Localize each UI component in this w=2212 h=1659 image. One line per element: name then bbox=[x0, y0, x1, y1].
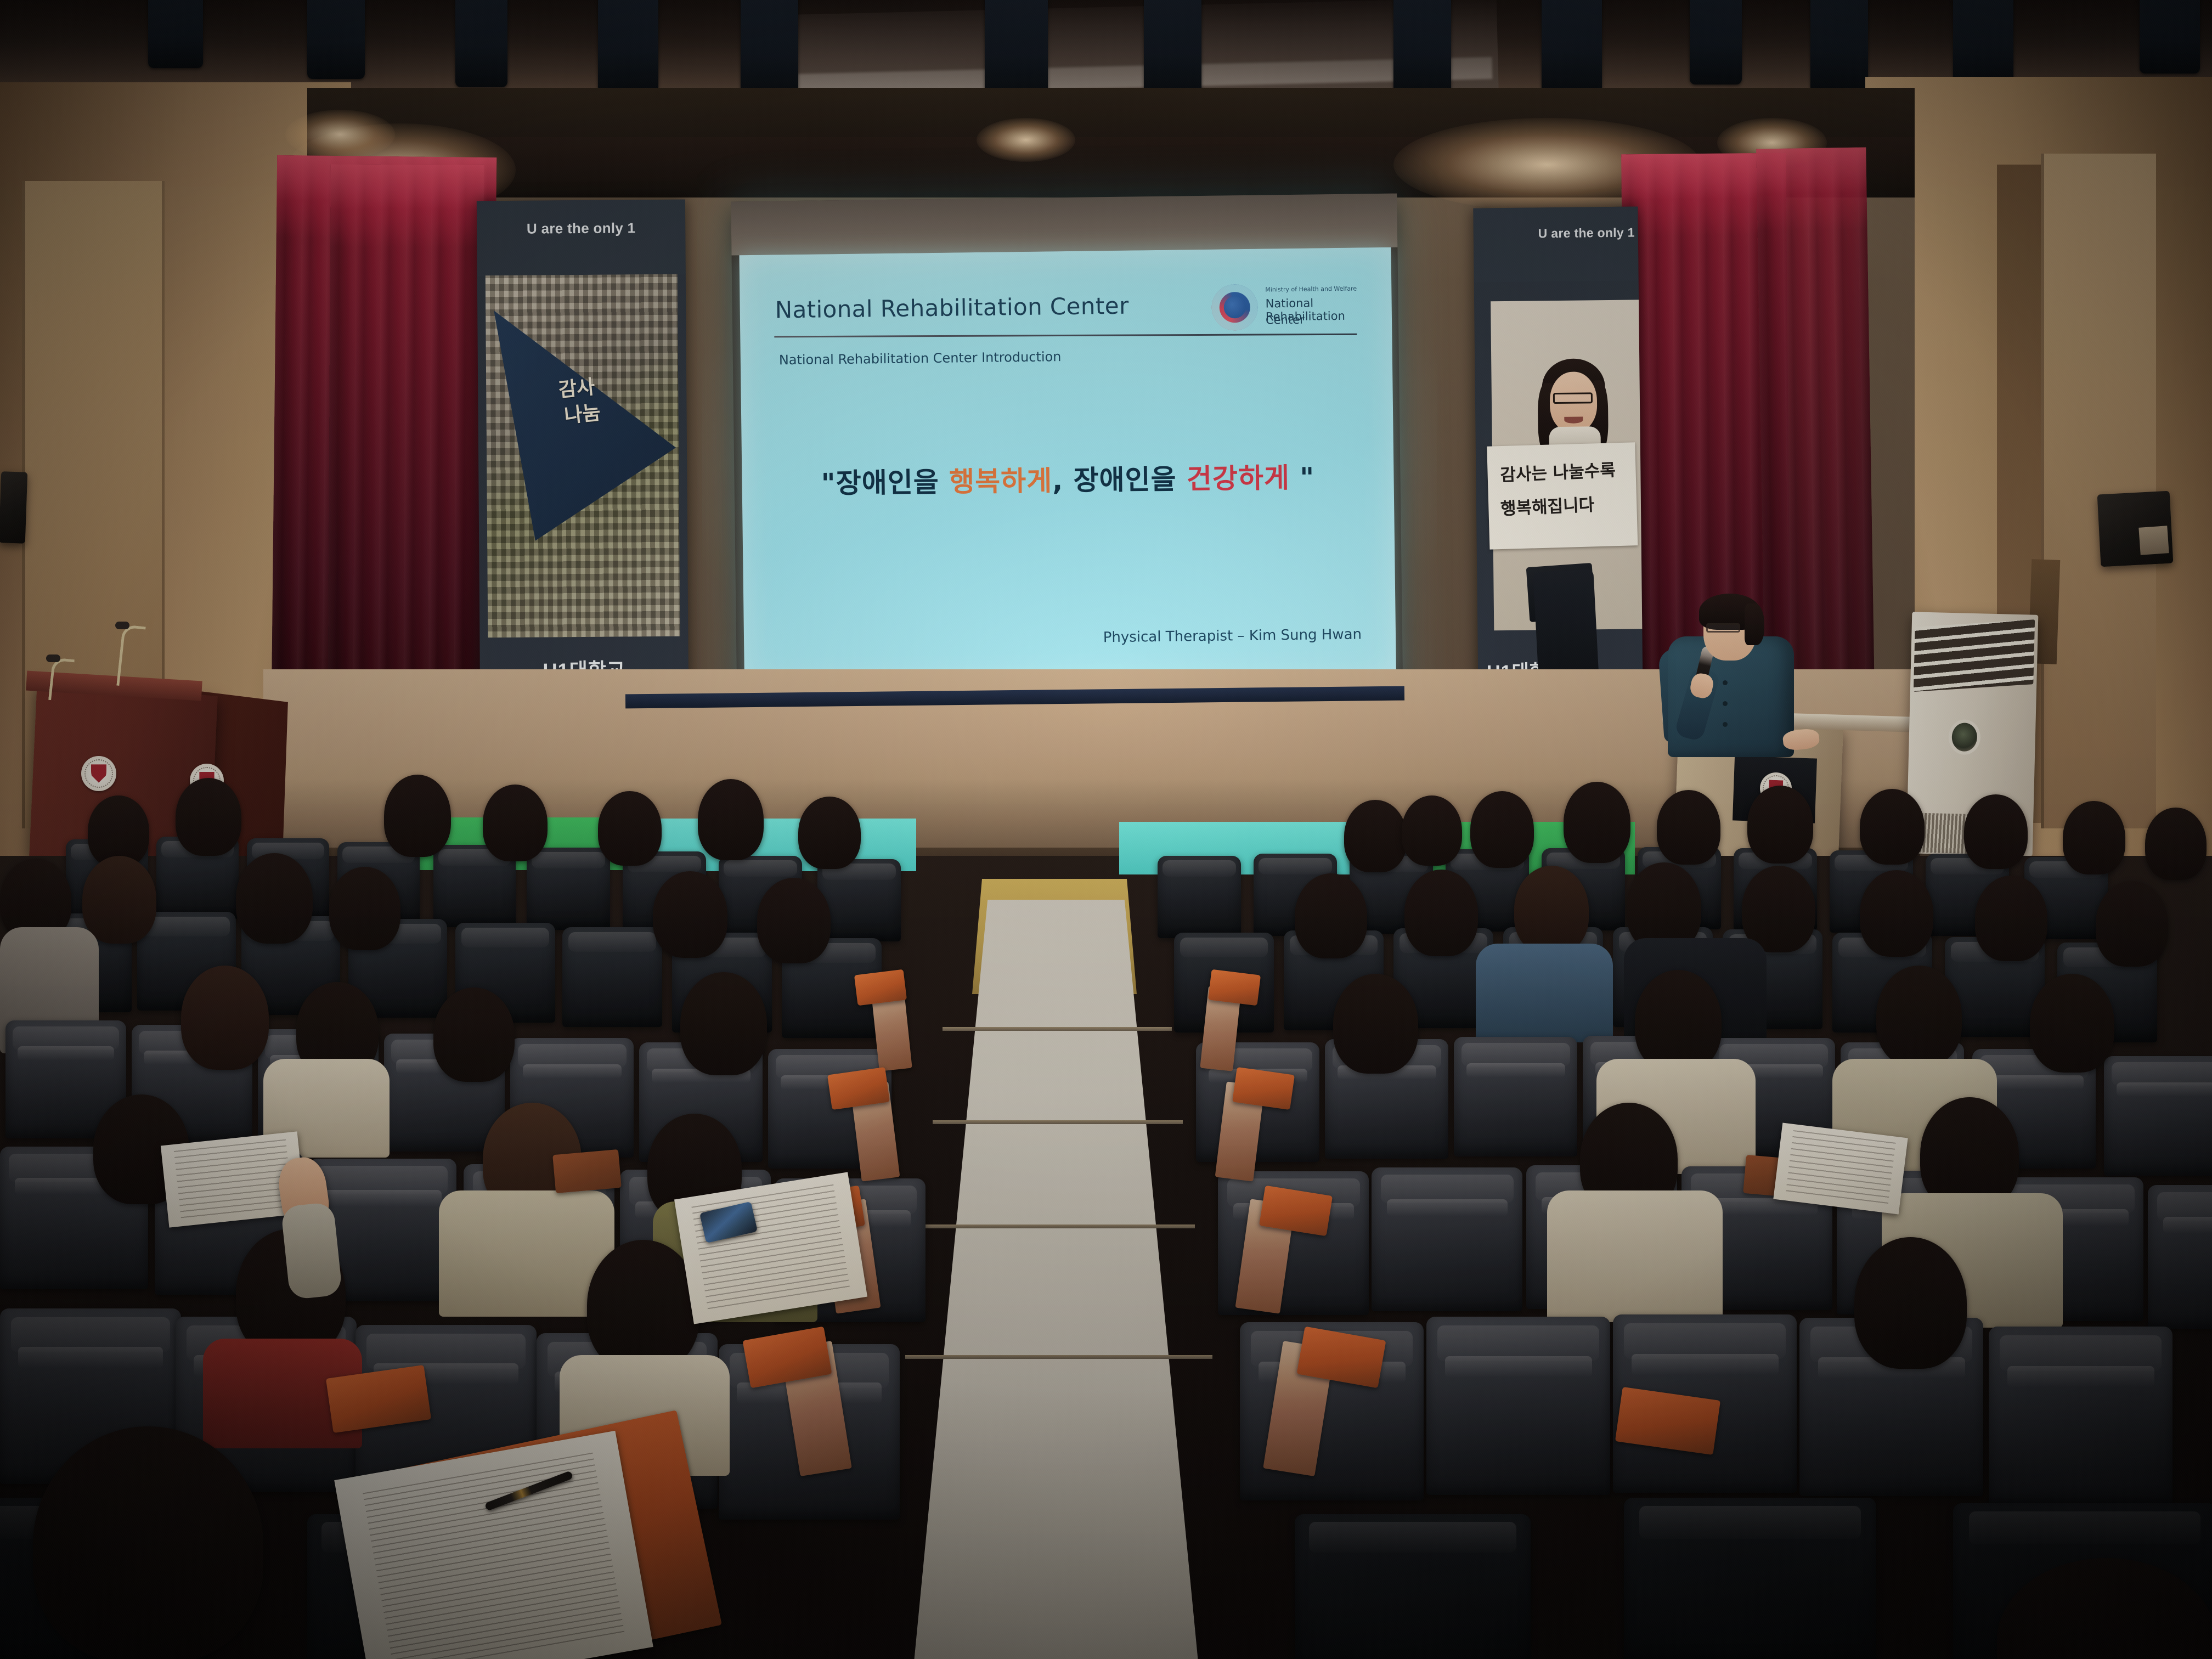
seat-cap bbox=[568, 932, 656, 952]
seat-R-r4-7[interactable] bbox=[2148, 1185, 2212, 1329]
banner-right-header bbox=[1473, 206, 1638, 282]
audience-head-L-c3 bbox=[236, 853, 313, 944]
seat-cap bbox=[1639, 1506, 1861, 1539]
seat-L-r1-6[interactable] bbox=[527, 848, 610, 930]
nrc-logo: Ministry of Health and Welfare National … bbox=[1211, 280, 1371, 333]
stage-light-1 bbox=[148, 0, 203, 68]
audience-head-R-c2 bbox=[1404, 870, 1478, 956]
seat-gloss bbox=[1985, 1075, 2084, 1090]
banner-left-u1: U are the only 1 감사 나눔 U1대학교 bbox=[477, 200, 689, 701]
banner-right-tagline: U are the only 1 bbox=[1474, 225, 1638, 241]
seat-R-r5-2[interactable] bbox=[1426, 1317, 1610, 1495]
seat-cap bbox=[1163, 860, 1236, 877]
audience-head-R-b6 bbox=[1747, 786, 1813, 864]
stage-light-2 bbox=[307, 0, 365, 79]
audience-head-R-d1 bbox=[1333, 974, 1418, 1074]
slide-divider-rule bbox=[774, 334, 1357, 338]
audience-head-L-b3 bbox=[384, 775, 451, 857]
audience-head-R-b8 bbox=[1964, 794, 2028, 869]
seat-cap bbox=[1180, 938, 1268, 957]
slide-korean-slogan: "장애인을 행복하게, 장애인을 건강하게 " bbox=[742, 455, 1394, 503]
stage-light-11 bbox=[1810, 0, 1868, 93]
presenter-shirt-button-2 bbox=[1723, 701, 1728, 706]
midground-handout-lines bbox=[691, 1184, 850, 1312]
audience-head-L-b4 bbox=[483, 785, 548, 861]
seat-writing-tablet-5[interactable] bbox=[1208, 969, 1261, 1006]
stage-light-9 bbox=[1542, 0, 1602, 93]
audience-head-R-c8 bbox=[2096, 881, 2168, 967]
stage-light-13 bbox=[2140, 0, 2200, 74]
handout-text-lines bbox=[363, 1453, 625, 1659]
seat-gloss bbox=[1632, 1354, 1779, 1375]
seat-cap bbox=[461, 928, 549, 947]
left-lectern-mic-capsule-2 bbox=[115, 622, 129, 629]
slogan-part-1: 장애인을 bbox=[836, 466, 949, 500]
audience-head-R-b3 bbox=[1470, 791, 1534, 868]
stage-light-4 bbox=[598, 0, 658, 93]
aisle-tile-joint-3 bbox=[921, 1224, 1195, 1228]
slogan-accent-healthy: 건강하게 bbox=[1187, 462, 1290, 495]
aisle-tile-joint-2 bbox=[933, 1120, 1183, 1124]
audience-head-L-b6 bbox=[698, 779, 764, 860]
stage-light-5 bbox=[741, 0, 798, 101]
aisle-tile-joint-1 bbox=[943, 1027, 1172, 1031]
stage-light-7 bbox=[1144, 0, 1201, 101]
seat-R-r6-1[interactable] bbox=[1295, 1514, 1531, 1659]
audience-head-L-b2 bbox=[176, 778, 241, 856]
seat-cap bbox=[1969, 1511, 2200, 1544]
audience-head-R-c6 bbox=[1860, 870, 1933, 957]
audience-head-R-b7 bbox=[1860, 789, 1925, 865]
stage-light-12 bbox=[1953, 0, 2013, 87]
air-conditioner-control-knob[interactable] bbox=[1951, 723, 1977, 752]
aisle-tile-joint-4 bbox=[905, 1355, 1212, 1359]
banner-right-sign-line2: 행복해집니다 bbox=[1500, 490, 1595, 520]
seat-cap bbox=[1309, 1522, 1516, 1553]
seat-gloss bbox=[18, 1347, 163, 1368]
slide-presenter-credit: Physical Therapist – Kim Sung Hwan bbox=[1103, 626, 1362, 646]
audience-head-R-b5 bbox=[1657, 790, 1720, 865]
presenter-glasses bbox=[1706, 623, 1740, 633]
seat-gloss bbox=[323, 1190, 442, 1207]
seat-gloss bbox=[2007, 1366, 2154, 1387]
slogan-open-quote: " bbox=[821, 467, 836, 499]
audience-head-R-b2 bbox=[1402, 795, 1462, 866]
curtain-top-light-left-inner bbox=[330, 164, 484, 247]
presenter-shirt-button-1 bbox=[1723, 680, 1728, 685]
presenter-shirt-button-3 bbox=[1723, 722, 1728, 727]
taegeuk-swirl-icon bbox=[1211, 284, 1258, 331]
left-lectern-emblem-ring bbox=[84, 759, 114, 788]
right-handout-sheet[interactable] bbox=[1773, 1123, 1908, 1215]
seat-writing-tablet-9[interactable] bbox=[552, 1149, 622, 1193]
seat-R-r5-5[interactable] bbox=[1989, 1327, 2172, 1505]
slide-subtitle: National Rehabilitation Center Introduct… bbox=[779, 349, 1062, 368]
stage-curtain-left-inner bbox=[328, 164, 484, 724]
seat-cap bbox=[143, 917, 230, 936]
slogan-part-2: , 장애인을 bbox=[1052, 463, 1187, 496]
seat-L-r2-6[interactable] bbox=[562, 927, 662, 1027]
audience-body-R-c1 bbox=[1476, 944, 1613, 1042]
presenter-hair-right-side bbox=[1745, 603, 1764, 645]
audience-head-R-b9 bbox=[2063, 801, 2125, 874]
slogan-close-quote: " bbox=[1290, 461, 1315, 494]
audience-head-foreground-left bbox=[33, 1426, 263, 1659]
audience-head-R-d2 bbox=[1635, 970, 1722, 1072]
audience-head-L-d4 bbox=[680, 972, 767, 1075]
right-handout-lines bbox=[1785, 1130, 1896, 1207]
banner-left-header bbox=[477, 200, 686, 276]
stage-light-8 bbox=[1393, 0, 1451, 98]
audience-head-L-d3 bbox=[433, 988, 515, 1082]
air-conditioner-louvers bbox=[1914, 619, 2035, 692]
right-wall-panel bbox=[2041, 154, 2156, 828]
wall-speaker-right-bracket bbox=[2138, 526, 2169, 555]
audience-head-R-c1 bbox=[1295, 873, 1367, 958]
seat-gloss bbox=[2117, 1082, 2212, 1097]
auditorium-photo: U are the only 1 감사 나눔 U1대학교 U are the o… bbox=[0, 0, 2212, 1659]
audience-head-L-f2 bbox=[587, 1240, 699, 1372]
audience-raised-forearm bbox=[280, 1201, 342, 1300]
banner-right-portrait-glasses bbox=[1553, 392, 1593, 404]
seat-gloss bbox=[18, 1046, 114, 1060]
left-handout-lines bbox=[173, 1139, 292, 1220]
seat-cap bbox=[1259, 858, 1332, 874]
seat-gloss bbox=[2163, 1217, 2212, 1234]
banner-right-sign-line1: 감사는 나눌수록 bbox=[1499, 456, 1616, 486]
banner-left-tagline: U are the only 1 bbox=[477, 219, 685, 238]
audience-head-R-c7 bbox=[1975, 876, 2047, 961]
left-lectern-emblem-icon bbox=[81, 756, 116, 791]
audience-head-R-d4 bbox=[2030, 974, 2114, 1073]
slide-surface: National Rehabilitation Center National … bbox=[739, 247, 1396, 687]
audience-head-R-b1 bbox=[1344, 800, 1407, 872]
audience-head-R-f1 bbox=[1854, 1237, 1967, 1369]
audience-head-R-b10 bbox=[2145, 808, 2207, 880]
seat-R-r3-3[interactable] bbox=[1454, 1037, 1577, 1156]
left-lectern-mic-capsule-1 bbox=[46, 654, 60, 662]
audience-head-R-d3 bbox=[1876, 966, 1962, 1066]
audience-body-R-e1 bbox=[1547, 1190, 1723, 1322]
audience-head-R-b4 bbox=[1564, 782, 1630, 863]
seat-cap bbox=[532, 852, 605, 868]
seat-R-r4-2[interactable] bbox=[1372, 1167, 1522, 1311]
audience-head-L-c4 bbox=[329, 867, 400, 950]
seat-gloss bbox=[1445, 1356, 1592, 1378]
audience-head-L-b7 bbox=[798, 797, 861, 869]
slogan-accent-happy: 행복하게 bbox=[949, 465, 1053, 498]
logo-ministry-line: Ministry of Health and Welfare bbox=[1265, 285, 1357, 294]
audience-head-L-d1 bbox=[181, 966, 269, 1070]
screen-top-casing bbox=[731, 194, 1397, 256]
seat-writing-tablet-1[interactable] bbox=[854, 969, 907, 1006]
curtain-top-light-far-right bbox=[1756, 147, 1867, 231]
seat-R-r1-1[interactable] bbox=[1158, 856, 1241, 938]
slide-title: National Rehabilitation Center bbox=[775, 292, 1128, 324]
wall-speaker-left-icon bbox=[0, 471, 27, 544]
seat-R-r3-8[interactable] bbox=[2104, 1056, 2212, 1176]
audience-head-R-c3 bbox=[1514, 866, 1589, 953]
seat-gloss bbox=[1466, 1063, 1565, 1077]
stage-light-3 bbox=[455, 0, 507, 87]
seat-gloss bbox=[523, 1064, 622, 1079]
audience-head-L-c6 bbox=[757, 878, 831, 963]
audience-head-L-c5 bbox=[653, 871, 727, 958]
seat-R-r6-2[interactable] bbox=[1624, 1498, 1876, 1659]
seat-cap bbox=[724, 860, 797, 877]
logo-org-line-2: Center bbox=[1266, 313, 1305, 327]
projection-screen: National Rehabilitation Center National … bbox=[731, 194, 1403, 718]
audience-head-L-c2 bbox=[82, 856, 156, 944]
stage-light-10 bbox=[1690, 0, 1742, 84]
seat-gloss bbox=[1387, 1199, 1508, 1216]
audience-head-L-b5 bbox=[598, 791, 662, 866]
